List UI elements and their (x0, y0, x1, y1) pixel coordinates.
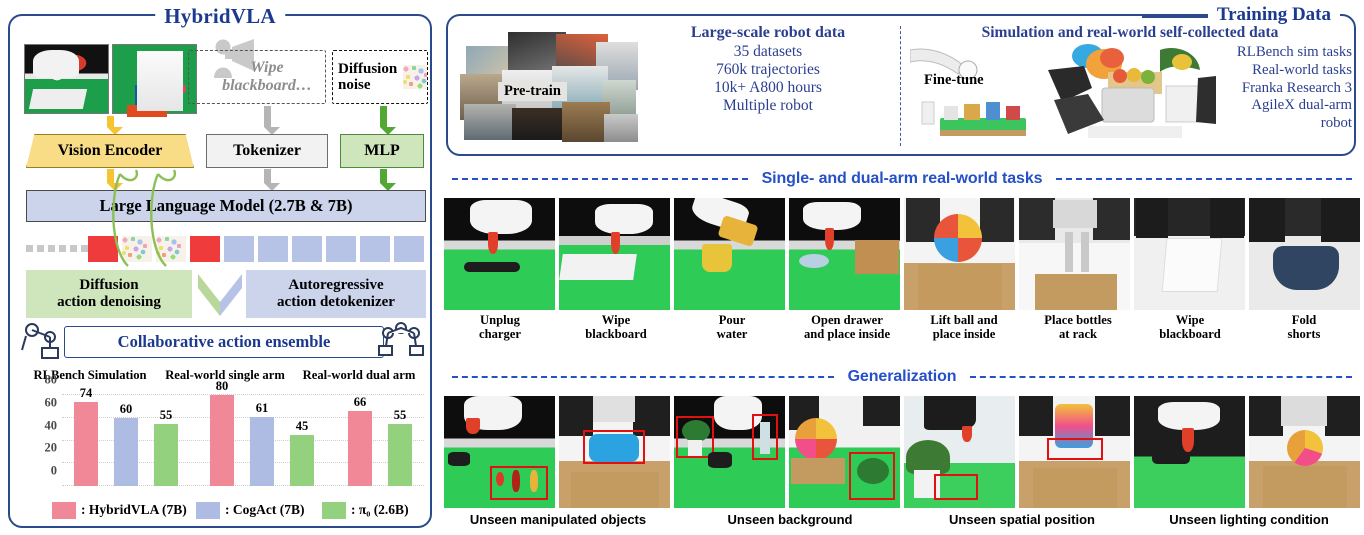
arrow-vision-input (105, 116, 115, 134)
gen-image-unseen-background-1 (559, 396, 670, 508)
task-caption-4: Lift ball andplace inside (906, 314, 1022, 342)
chart-ytick-0: 0 (51, 464, 57, 479)
collaborative-action-ensemble-block[interactable]: Collaborative action ensemble (64, 326, 384, 358)
generalization-banner-text: Generalization (834, 368, 971, 386)
bar-single-cogact: 61 (250, 417, 274, 486)
bar-value-single-hybridvla: 80 (216, 379, 229, 394)
task-image-wipe-blackboard (559, 198, 670, 310)
generalization-image-strip (444, 396, 1360, 508)
large-scale-line-1: 760k trajectories (644, 61, 892, 79)
legend-label-hybridvla: : HybridVLA (7B) (81, 502, 187, 518)
diffusion-action-denoising-block[interactable]: Diffusion action denoising (26, 270, 192, 318)
generalization-caption-2: Unseen spatial position (908, 512, 1136, 527)
gen-image-unseen-spatial-1 (789, 396, 900, 508)
chart-ytick-80: 80 (45, 373, 58, 388)
finetune-scene-image (910, 44, 1046, 144)
input-image-wrist-view (24, 44, 109, 114)
finetune-label: Fine-tune (924, 72, 984, 89)
legend-label-pi0: : π₀ (2.6B) (351, 502, 409, 518)
finetune-scene-graphic (910, 44, 1046, 144)
task-caption-0: Unplugcharger (444, 314, 556, 342)
arrow-tokenizer-to-llm (262, 169, 272, 190)
training-data-panel: Training Data Pre-train Large-scale robo… (446, 14, 1356, 156)
bar-dual-hybridvla: 66 (348, 411, 372, 486)
large-scale-line-3: Multiple robot (644, 97, 892, 115)
task-image-pour-water (674, 198, 785, 310)
leading-token-dots (26, 245, 88, 252)
token-lm-4 (326, 236, 356, 262)
sim-real-line-3: AgileX dual-arm robot (1220, 97, 1352, 133)
autoregressive-label: Autoregressive action detokenizer (277, 277, 395, 311)
collage-tile (512, 108, 568, 140)
merge-chevron-icon (196, 272, 244, 316)
panel-title-hybridvla: HybridVLA (155, 4, 285, 29)
gridline-80 (62, 394, 424, 395)
sim-real-line-0: RLBench sim tasks (1220, 44, 1352, 62)
chart-ytick-20: 20 (45, 441, 58, 456)
highlight-box (934, 474, 978, 500)
legend-item-cogact: : CogAct (7B) (196, 502, 304, 519)
task-image-open-drawer (789, 198, 900, 310)
collage-tile (604, 114, 638, 142)
arrow-mlp-to-llm (378, 169, 388, 190)
hybridvla-method-panel: HybridVLA Wipe blackboard… Diffusion noi… (8, 14, 432, 528)
vision-encoder-block[interactable]: Vision Encoder (26, 134, 194, 168)
sim-real-line-2: Franka Research 3 (1220, 80, 1352, 98)
dual-robot-arm-icon (378, 320, 424, 360)
gen-image-unseen-spatial-2 (904, 396, 1015, 508)
pretrain-dataset-collage: Pre-train (460, 30, 638, 142)
highlight-box (1047, 438, 1103, 460)
gen-image-unseen-objects-1 (444, 396, 555, 508)
bar-value-single-cogact: 61 (256, 401, 269, 416)
task-caption-5: Place bottlesat rack (1022, 314, 1134, 342)
token-lm-6 (394, 236, 424, 262)
bar-rlbench-cogact: 60 (114, 418, 138, 486)
task-image-lift-ball (904, 198, 1015, 310)
gen-banner-dash-left (452, 376, 834, 378)
gen-image-unseen-lighting-3 (1249, 396, 1360, 508)
task-caption-6: Wipeblackboard (1134, 314, 1246, 342)
tasks-section-banner: Single- and dual-arm real-world tasks (452, 168, 1352, 190)
sim-real-list: RLBench sim tasks Real-world tasks Frank… (1220, 44, 1352, 133)
token-lm-1 (224, 236, 254, 262)
autoregressive-detokenizer-block[interactable]: Autoregressive action detokenizer (246, 270, 426, 318)
task-caption-3: Open drawerand place inside (786, 314, 908, 342)
gen-image-unseen-lighting-1 (1019, 396, 1130, 508)
bar-single-pi0: 45 (290, 435, 314, 486)
task-caption-2: Pourwater (676, 314, 788, 342)
mlp-label: MLP (364, 142, 400, 160)
chart-ytick-40: 40 (45, 418, 58, 433)
task-image-unplug-charger (444, 198, 555, 310)
bar-value-rlbench-pi0: 55 (160, 408, 173, 423)
bar-value-rlbench-hybridvla: 74 (80, 386, 93, 401)
task-caption-1: Wipeblackboard (560, 314, 672, 342)
gen-image-unseen-lighting-2 (1134, 396, 1245, 508)
bar-value-single-pi0: 45 (296, 419, 309, 434)
language-instruction-box: Wipe blackboard… (188, 50, 326, 104)
token-sequence-row (26, 236, 426, 262)
robot-arm-icon (20, 320, 66, 360)
token-lm-5 (360, 236, 390, 262)
task-image-wipe-blackboard-dual (1134, 198, 1245, 310)
token-lm-3 (292, 236, 322, 262)
table-plate-shape (29, 89, 87, 109)
pretrain-label: Pre-train (498, 82, 567, 101)
generalization-caption-1: Unseen background (676, 512, 904, 527)
legend-item-hybridvla: : HybridVLA (7B) (52, 502, 187, 519)
collage-tile (562, 102, 610, 142)
diffusion-noise-label: Diffusion noise (338, 61, 400, 94)
infographic-root: HybridVLA Wipe blackboard… Diffusion noi… (0, 0, 1364, 535)
sim-real-line-1: Real-world tasks (1220, 62, 1352, 80)
bar-rlbench-hybridvla: 74 (74, 402, 98, 486)
arrow-language-input (262, 106, 272, 134)
tasks-image-strip (444, 198, 1360, 310)
sim-real-heading: Simulation and real-world self-collected… (910, 24, 1350, 42)
legend-swatch-hybridvla (52, 502, 76, 519)
bar-value-rlbench-cogact: 60 (120, 402, 133, 417)
generalization-caption-3: Unseen lighting condition (1136, 512, 1362, 527)
diffusion-loop-arrows-icon (106, 170, 216, 274)
highlight-box (583, 430, 645, 464)
legend-swatch-cogact (196, 502, 220, 519)
bar-value-dual-pi0: 55 (394, 408, 407, 423)
real-robot-graphic (1048, 42, 1218, 144)
training-panel-divider (900, 26, 901, 146)
chart-ytick-60: 60 (45, 395, 58, 410)
task-image-place-bottles (1019, 198, 1130, 310)
banner-dash-right (1056, 178, 1352, 180)
chart-legend: : HybridVLA (7B) : CogAct (7B) : π₀ (2.6… (34, 500, 424, 520)
tokenizer-block[interactable]: Tokenizer (206, 134, 328, 168)
bar-single-hybridvla: 80 (210, 395, 234, 486)
token-lm-2 (258, 236, 288, 262)
large-scale-line-0: 35 datasets (644, 43, 892, 61)
legend-item-pi0: : π₀ (2.6B) (322, 502, 409, 519)
large-language-model-block[interactable]: Large Language Model (2.7B & 7B) (26, 190, 426, 222)
task-caption-7: Foldshorts (1248, 314, 1360, 342)
chart-plot-area: 0 20 40 60 80 74 60 55 80 61 45 (62, 386, 424, 486)
panel-title-training-data: Training Data (1208, 4, 1340, 26)
bar-dual-pi0: 55 (388, 424, 412, 486)
legend-label-cogact: : CogAct (7B) (225, 502, 304, 518)
legend-swatch-pi0 (322, 502, 346, 519)
generalization-caption-0: Unseen manipulated objects (444, 512, 672, 527)
large-scale-line-2: 10k+ A800 hours (644, 79, 892, 97)
gen-banner-dash-right (970, 376, 1352, 378)
language-instruction-text: Wipe blackboard… (213, 59, 321, 96)
generalization-section-banner: Generalization (452, 366, 1352, 388)
mlp-block[interactable]: MLP (340, 134, 424, 168)
tasks-banner-text: Single- and dual-arm real-world tasks (748, 170, 1057, 188)
chart-group-title-2: Real-world dual arm (296, 368, 422, 383)
bar-value-dual-hybridvla: 66 (354, 395, 367, 410)
ensemble-label: Collaborative action ensemble (118, 332, 331, 352)
tokenizer-label: Tokenizer (233, 142, 301, 160)
bar-rlbench-pi0: 55 (154, 424, 178, 486)
diffusion-label: Diffusion action denoising (57, 277, 161, 311)
vision-encoder-label: Vision Encoder (58, 142, 163, 160)
arrow-noise-input (378, 106, 388, 134)
noise-texture-swatch (403, 65, 427, 89)
input-image-third-person-view (112, 44, 197, 114)
large-scale-heading: Large-scale robot data (644, 24, 892, 42)
large-scale-robot-data-block: Large-scale robot data 35 datasets 760k … (644, 24, 892, 116)
banner-dash-left (452, 178, 748, 180)
robot-arm-shape (33, 50, 79, 78)
red-object-shape (127, 105, 167, 117)
blue-object-shape (135, 85, 171, 111)
results-bar-chart: RLBench Simulation Real-world single arm… (24, 368, 424, 520)
diffusion-noise-box: Diffusion noise (332, 50, 428, 104)
collage-tile (464, 104, 516, 140)
gen-image-unseen-background-2 (674, 396, 785, 508)
real-robot-setup-image (1048, 42, 1218, 144)
task-image-fold-shorts (1249, 198, 1360, 310)
